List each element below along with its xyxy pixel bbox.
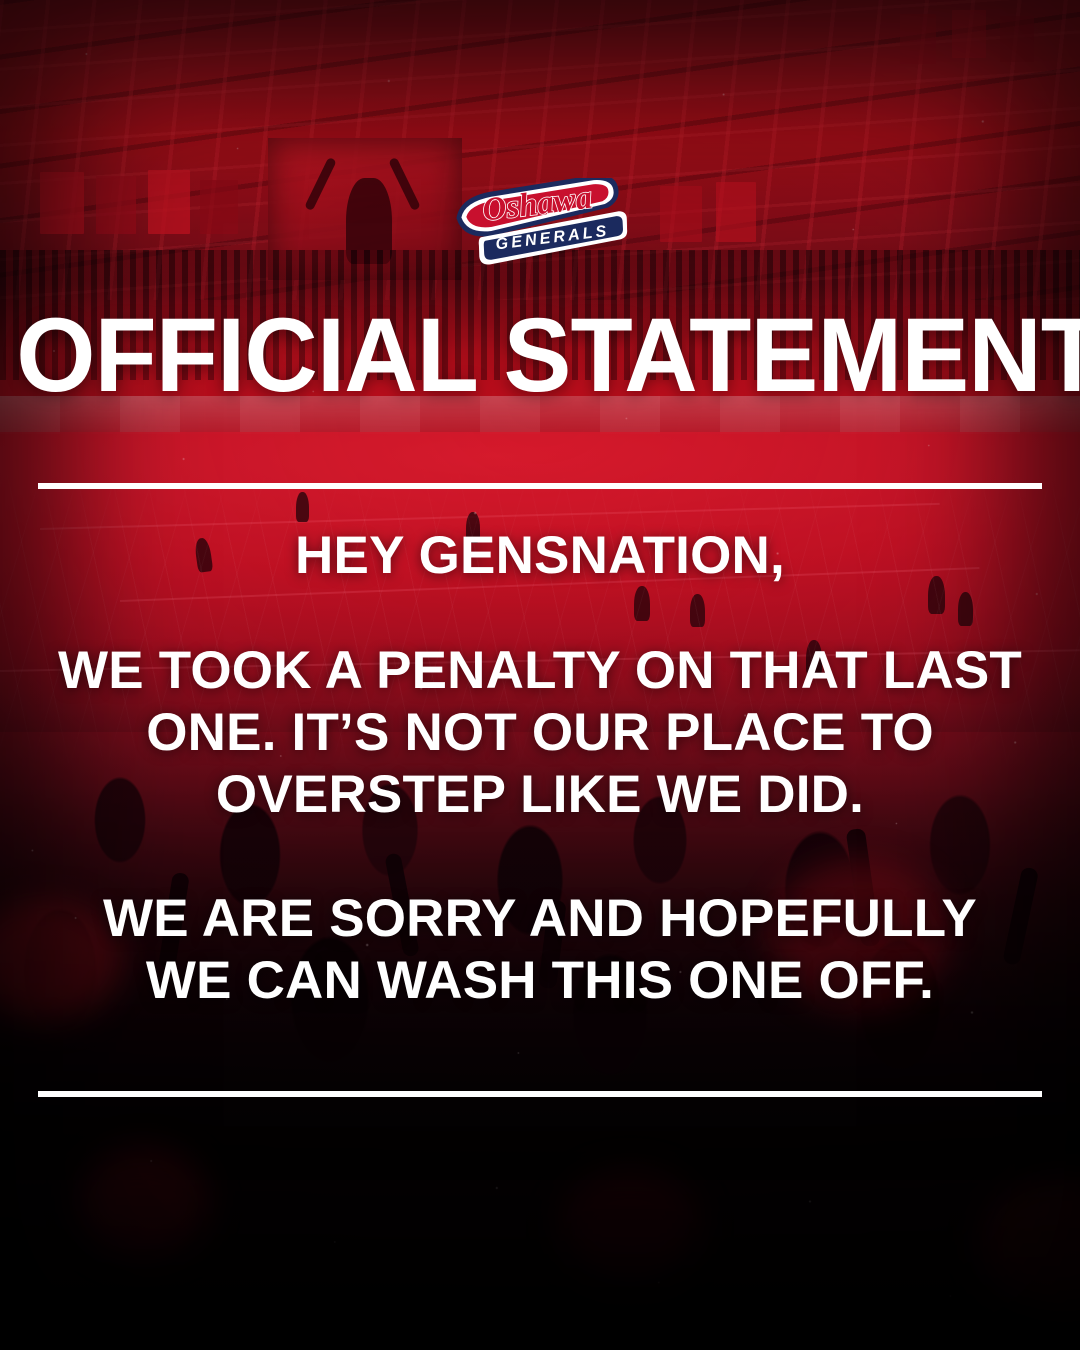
divider-top [38, 483, 1042, 489]
statement-line: WE TOOK A PENALTY ON THAT LAST [40, 640, 1040, 702]
page-title: OFFICIAL STATEMENT [16, 306, 1064, 407]
statement-line: OVERSTEP LIKE WE DID. [40, 764, 1040, 826]
statement-line: WE ARE SORRY AND HOPEFULLY [40, 888, 1040, 950]
statement-paragraph-1: WE TOOK A PENALTY ON THAT LAST ONE. IT’S… [40, 640, 1040, 826]
divider-bottom [38, 1091, 1042, 1097]
official-statement-poster: Oshawa GENERALS OFFICIAL STATEMENT HEY G… [0, 0, 1080, 1350]
statement-paragraph-2: WE ARE SORRY AND HOPEFULLY WE CAN WASH T… [40, 888, 1040, 1012]
statement-line: WE CAN WASH THIS ONE OFF. [40, 950, 1040, 1012]
statement-body: HEY GENSNATION, WE TOOK A PENALTY ON THA… [40, 528, 1040, 1012]
statement-line: ONE. IT’S NOT OUR PLACE TO [40, 702, 1040, 764]
oshawa-generals-logo: Oshawa GENERALS [450, 178, 630, 274]
statement-greeting: HEY GENSNATION, [40, 528, 1040, 584]
